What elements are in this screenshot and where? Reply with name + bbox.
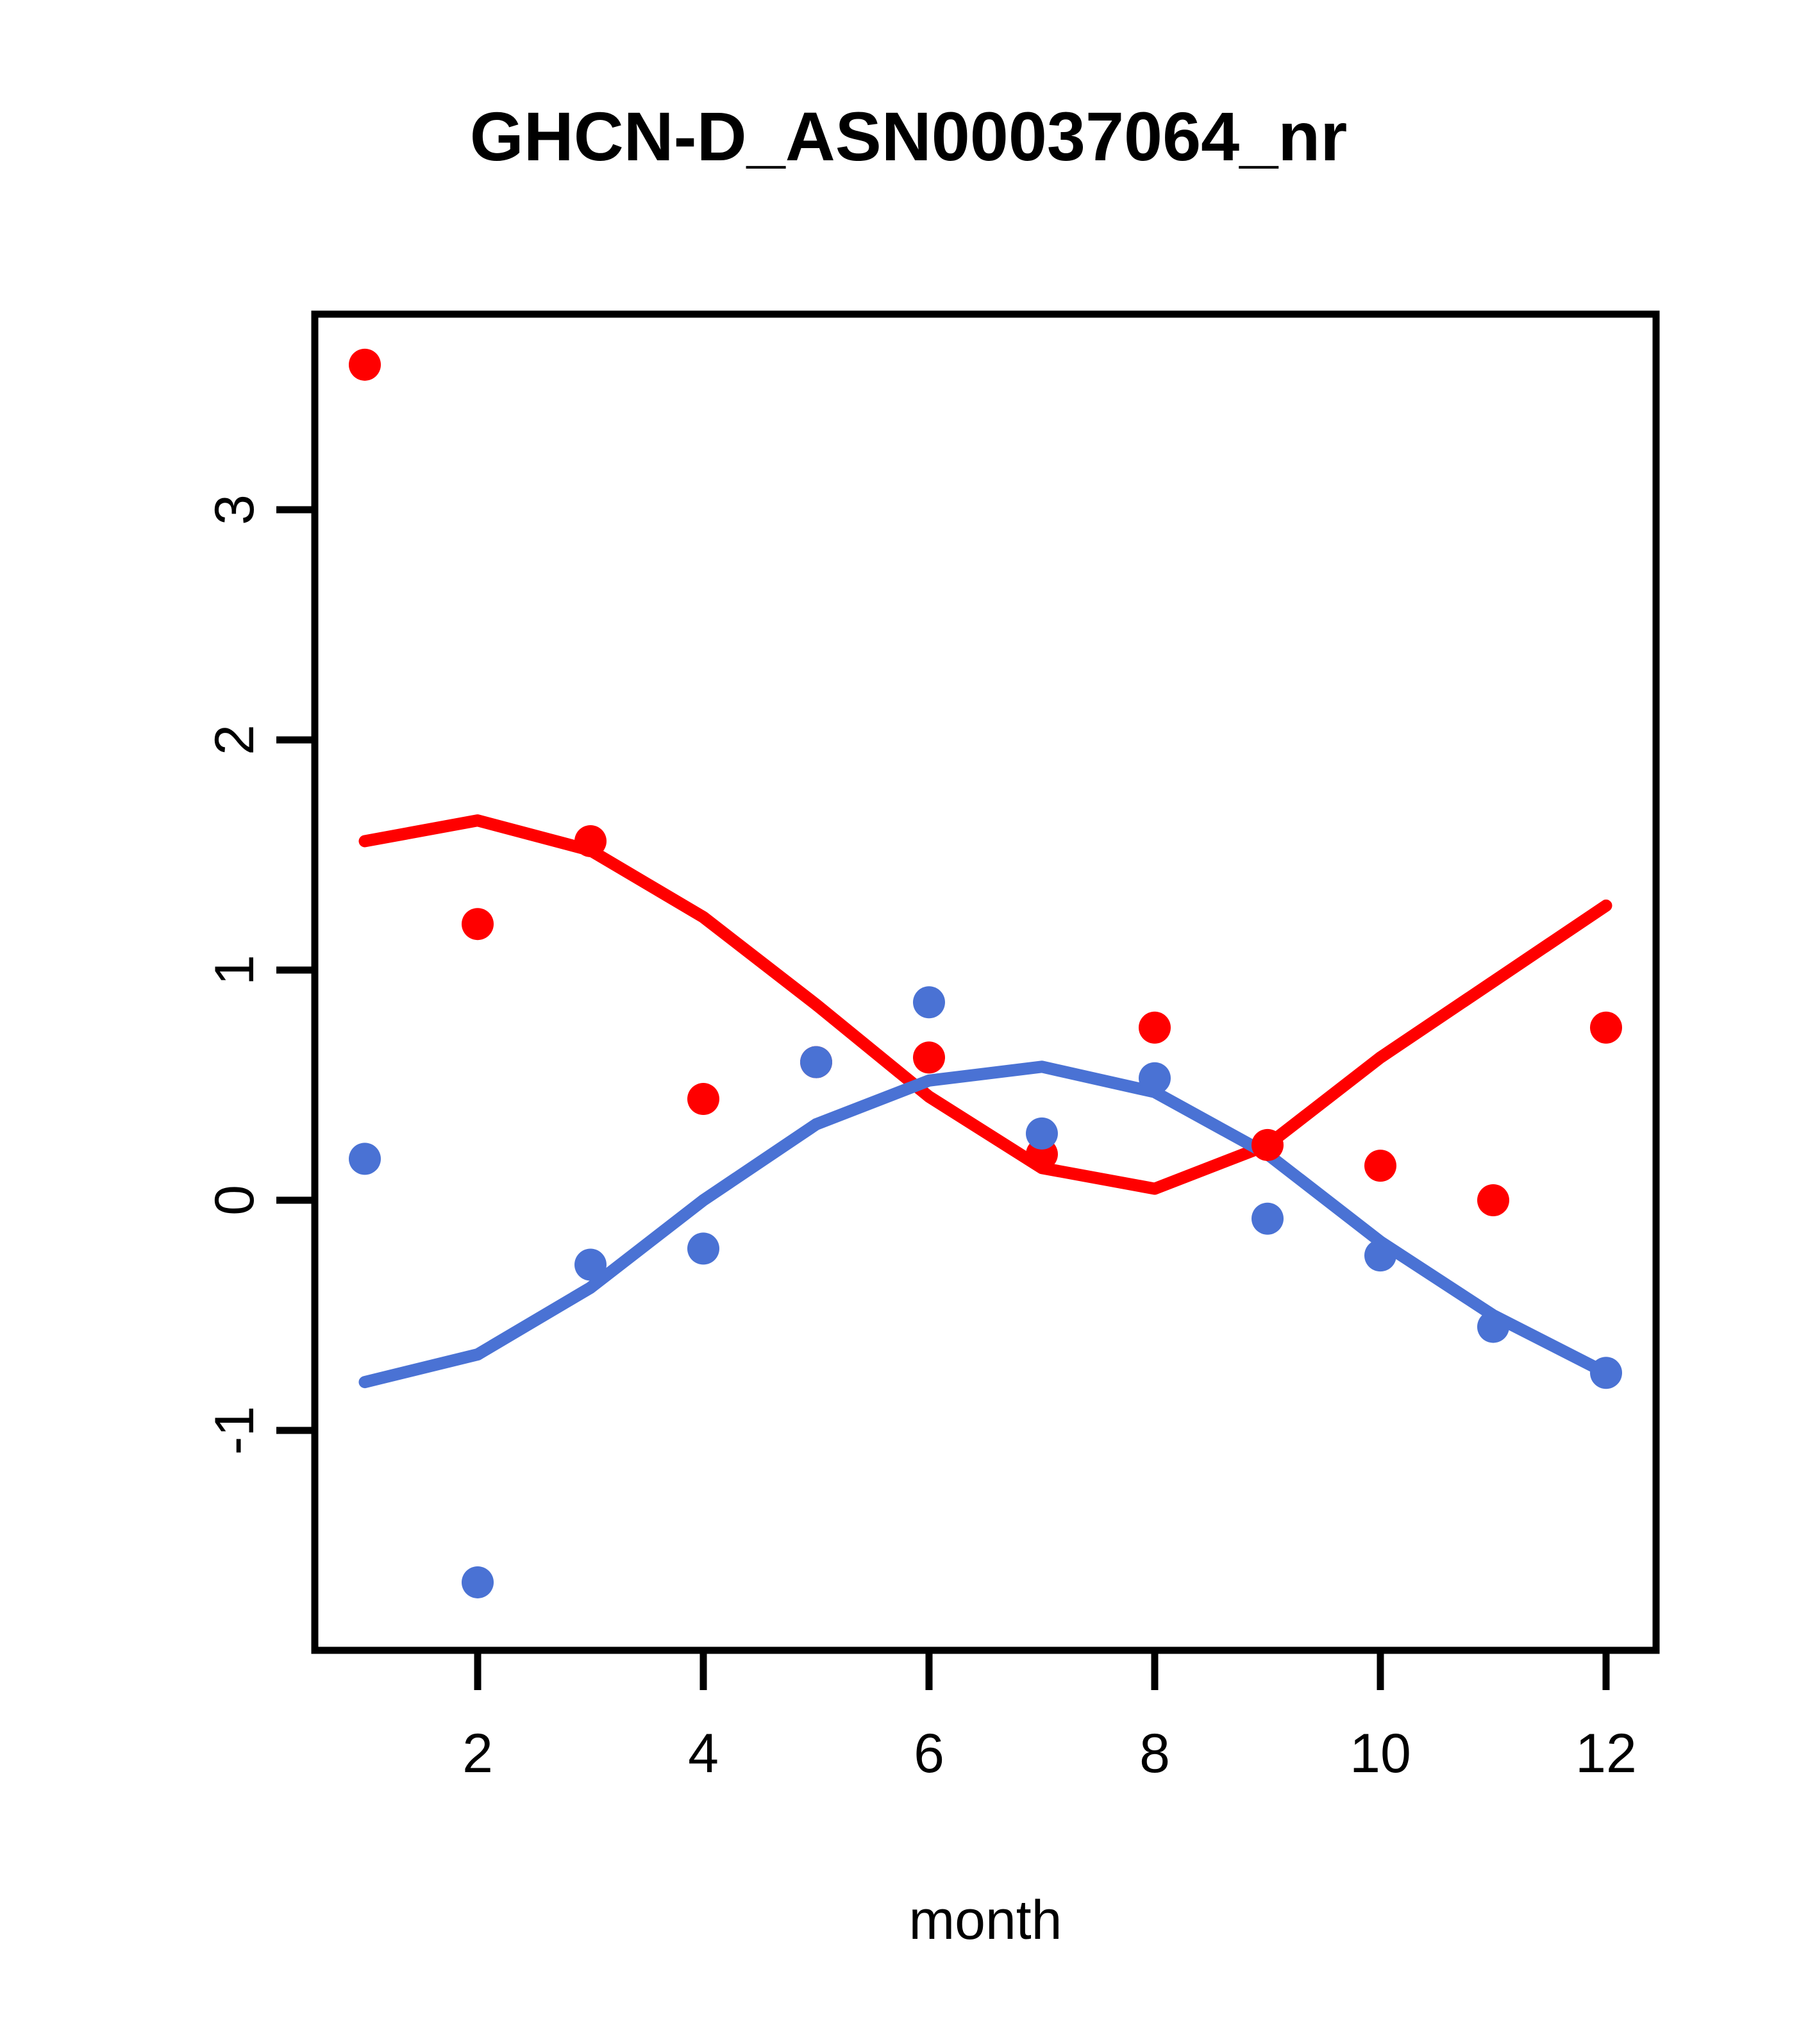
series-line-red-smooth-line [365,821,1606,1189]
data-point [349,1143,381,1175]
y-axis-tick-label: 2 [204,725,265,755]
data-point [1477,1311,1509,1343]
x-axis-tick-label: 12 [1575,1723,1637,1784]
data-point [462,908,494,940]
data-point [1252,1129,1284,1161]
data-point [1252,1203,1284,1235]
data-point [913,986,945,1018]
figure-canvas: GHCN-D_ASN00037064_nr 3210-124681012mont… [0,0,1817,2044]
data-point [1590,1012,1622,1044]
data-point [687,1083,719,1115]
data-point [1139,1012,1171,1044]
data-point [800,1046,832,1078]
plot-area: 3210-124681012month [0,0,1817,2044]
x-axis-tick-label: 10 [1350,1723,1411,1784]
y-axis-tick-label: 3 [204,494,265,525]
data-point [1477,1184,1509,1216]
x-axis-tick-label: 8 [1139,1723,1170,1784]
data-point [1026,1118,1058,1150]
x-axis-tick-label: 6 [914,1723,944,1784]
plot-frame [315,314,1656,1650]
data-point [1364,1150,1396,1182]
data-point [913,1041,945,1073]
x-axis-tick-label: 4 [688,1723,719,1784]
data-point [687,1232,719,1264]
series-line-blue-smooth-line [365,1067,1606,1382]
data-point [349,349,381,381]
series-points-red-points [349,349,1622,1216]
data-point [1139,1062,1171,1094]
x-axis-tick-label: 2 [462,1723,493,1784]
y-axis-tick-label: 1 [204,955,265,985]
y-axis-tick-label: 0 [204,1185,265,1216]
data-point [1364,1239,1396,1271]
data-point [462,1566,494,1598]
x-axis-label: month [908,1889,1062,1951]
data-point [574,825,607,857]
data-point [1590,1357,1622,1389]
y-axis-tick-label: -1 [204,1406,265,1455]
data-point [574,1249,607,1281]
